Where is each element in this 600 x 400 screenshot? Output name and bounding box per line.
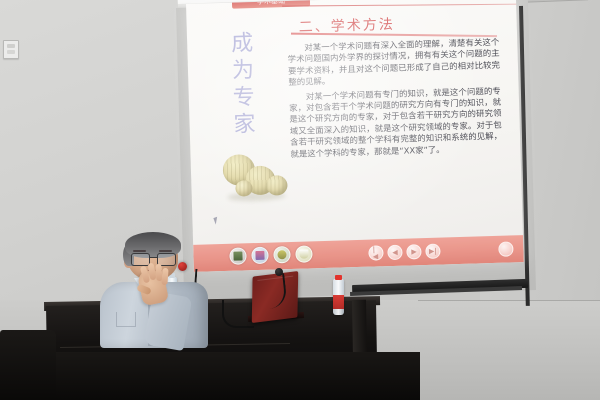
icon-button-4[interactable] [295,245,312,262]
last-slide-button[interactable]: ▶| [425,244,440,259]
slide-header-rule [282,4,518,7]
first-slide-icon: |◀ [373,246,380,260]
next-slide-button[interactable]: ▶ [406,244,421,259]
projected-slide: 学术基础 二、学术方法 成 为 专 家 对某一个学术问题有深入全面的理解，清楚有… [186,0,524,272]
vertical-char-4: 家 [227,111,262,139]
slide-vertical-headline: 成 为 专 家 [225,30,262,139]
footer-nav-group: |◀ ◀ ▶ ▶| [368,244,440,261]
mouse-pointer-icon [213,217,219,225]
podium-front-panel [0,352,420,400]
next-slide-icon: ▶ [411,248,417,255]
icon-button-2[interactable] [251,247,268,264]
lecturer [96,236,214,346]
eyeglasses-icon [130,253,177,265]
bottle-label-red [333,295,344,309]
chair-silhouette [0,330,56,400]
vertical-char-1: 成 [225,30,260,58]
lecturer-eyebrow-right [159,250,172,252]
cactus-photo [218,139,296,213]
icon-button-3[interactable] [273,246,290,263]
previous-slide-button[interactable]: ◀ [387,245,402,260]
lecturer-eyebrow-left [133,250,146,252]
laptop-cable [222,300,254,328]
footer-icon-group [229,245,312,264]
lecture-hall-photo: 学术基础 二、学术方法 成 为 专 家 对某一个学术问题有深入全面的理解，清楚有… [0,0,600,400]
first-slide-button[interactable]: |◀ [368,245,383,260]
slide-body-text: 对某一个学术问题有深入全面的理解，清楚有关这个学术问题国内外学界的探讨情况，拥有… [287,37,502,163]
finger-4 [161,268,168,285]
bottle-cap-red [335,275,342,280]
slide-paragraph-2: 对某一个学术问题有专门的知识，就是这个问题的专家，对包含若干个学术问题的研究方向… [289,85,503,160]
water-bottle-red-label [333,279,344,315]
eyeglasses-bridge [149,257,158,258]
microphone-black [275,268,283,276]
cactus-ball-small [266,175,288,196]
icon-button-1[interactable] [229,247,246,264]
wall-seam-line [418,300,600,301]
shirt-pocket [116,312,136,327]
vertical-char-2: 为 [226,57,261,85]
wall-outlet-plate [3,40,19,59]
previous-slide-icon: ◀ [392,249,398,256]
slide-paragraph-1: 对某一个学术问题有深入全面的理解，清楚有关这个学术问题国内外学界的探讨情况，拥有… [287,37,500,89]
last-slide-icon: ▶| [429,248,437,255]
vertical-char-3: 专 [226,84,261,112]
menu-button[interactable] [498,241,513,256]
